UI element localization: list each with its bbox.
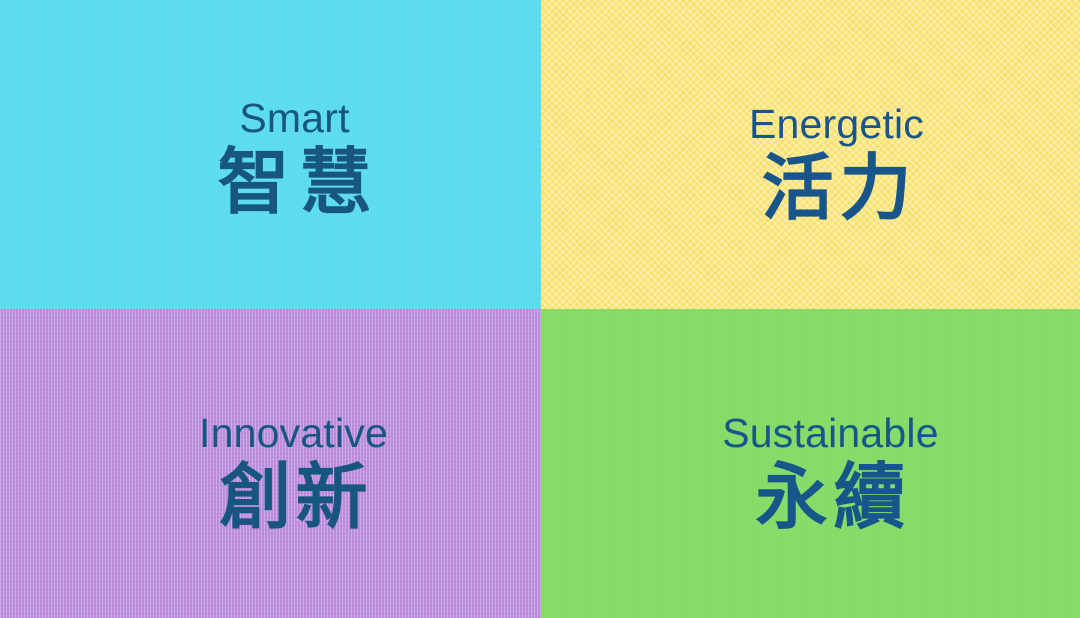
brand-values-poster: Smart 智慧 Energetic 活力 Innovative 創新 Sust… (0, 0, 1080, 618)
value-label-en-sustainable: Sustainable (722, 413, 938, 454)
value-card-sustainable[interactable]: Sustainable 永續 (541, 309, 1080, 618)
label-stack-sustainable: Sustainable 永續 (722, 413, 938, 534)
label-stack-smart: Smart 智慧 (207, 98, 381, 219)
value-label-en-smart: Smart (239, 98, 349, 139)
label-stack-innovative: Innovative 創新 (199, 413, 388, 534)
value-label-en-energetic: Energetic (749, 104, 924, 145)
value-label-cjk-innovative: 創新 (219, 462, 371, 534)
value-label-cjk-energetic: 活力 (761, 153, 917, 225)
value-grid: Smart 智慧 Energetic 活力 Innovative 創新 Sust… (0, 0, 1080, 618)
value-card-energetic[interactable]: Energetic 活力 (541, 0, 1080, 309)
label-stack-energetic: Energetic 活力 (749, 104, 924, 225)
value-label-en-innovative: Innovative (199, 413, 388, 454)
value-card-innovative[interactable]: Innovative 創新 (0, 309, 541, 618)
value-card-smart[interactable]: Smart 智慧 (0, 0, 541, 309)
value-label-cjk-smart: 智慧 (217, 147, 381, 219)
value-label-cjk-sustainable: 永續 (755, 462, 911, 534)
